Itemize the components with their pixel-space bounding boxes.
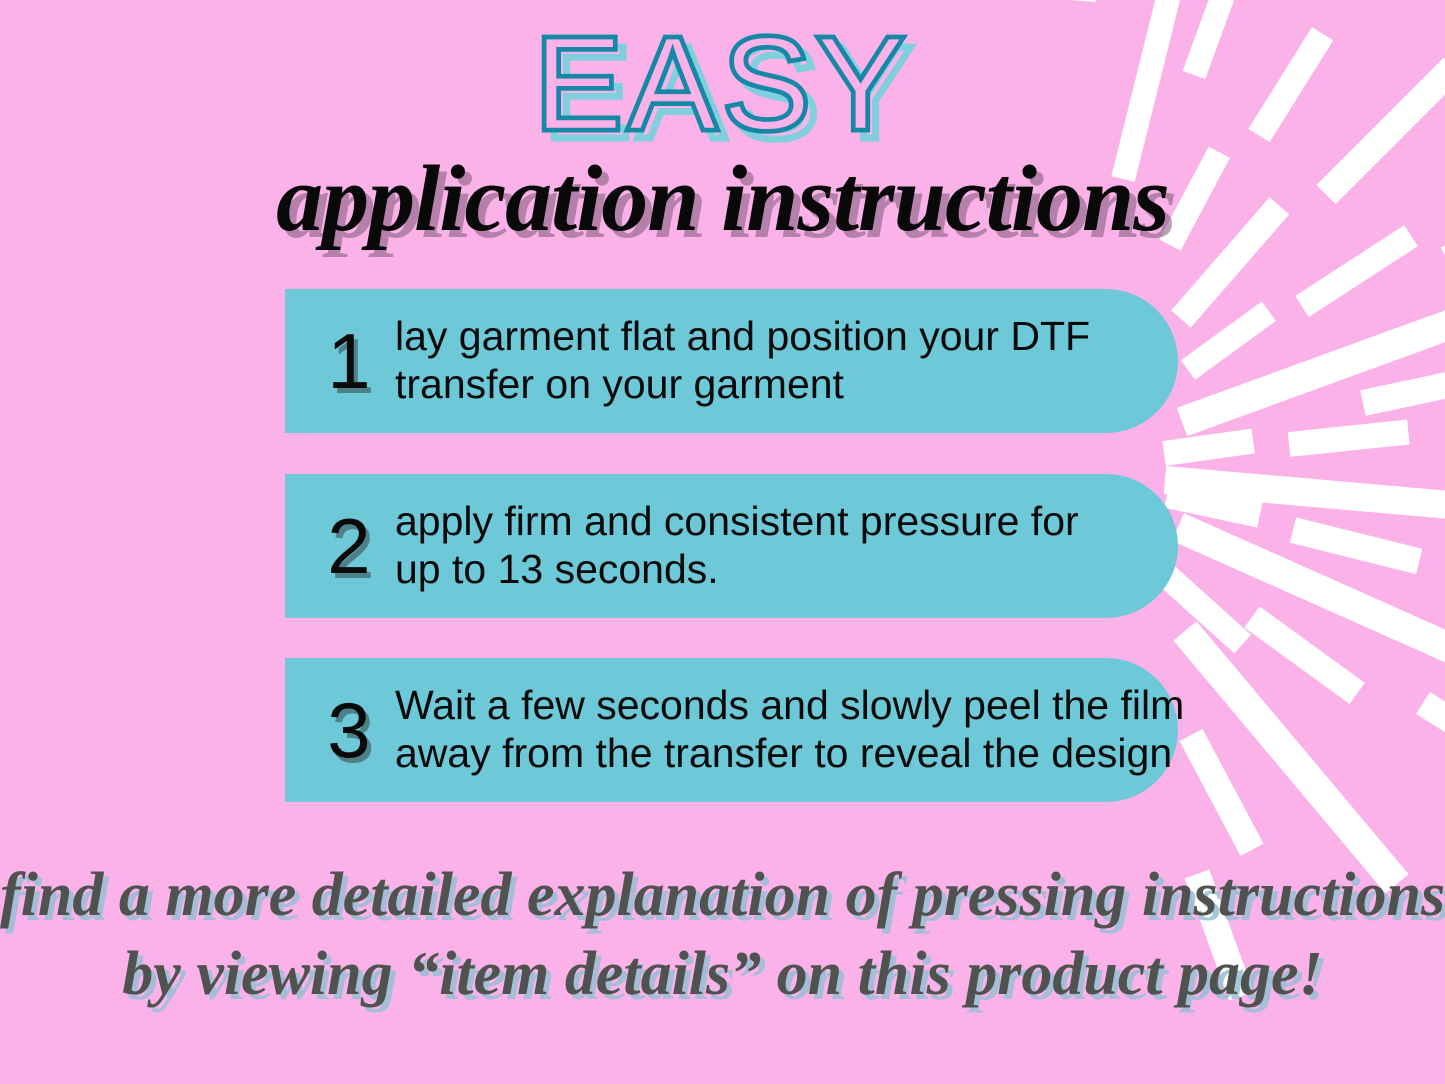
step-text-2-line-1: apply firm and consistent pressure for xyxy=(395,498,1079,546)
step-item-3: 3 Wait a few seconds and slowly peel the… xyxy=(285,658,1178,802)
step-item-1: 1 lay garment flat and position your DTF… xyxy=(285,289,1178,433)
instruction-poster: EASY EASY EASY EASY application instruct… xyxy=(0,0,1445,1084)
step-item-2: 2 apply firm and consistent pressure for… xyxy=(285,474,1178,618)
headline-inner-layer: EASY xyxy=(534,18,910,150)
step-text-2-line-2: up to 13 seconds. xyxy=(395,546,1079,594)
footer-line-1: find a more detailed explanation of pres… xyxy=(0,856,1445,935)
step-text-2: apply firm and consistent pressure for u… xyxy=(385,498,1079,594)
headline-easy: EASY EASY EASY EASY xyxy=(534,18,910,150)
step-text-1-line-1: lay garment flat and position your DTF xyxy=(395,313,1090,361)
footer-line-2: by viewing “item details” on this produc… xyxy=(0,935,1445,1014)
step-text-3-line-2: away from the transfer to reveal the des… xyxy=(395,730,1184,778)
step-text-1: lay garment flat and position your DTF t… xyxy=(385,313,1090,409)
step-number-3: 3 xyxy=(313,691,385,769)
step-text-3-line-1: Wait a few seconds and slowly peel the f… xyxy=(395,682,1184,730)
step-text-1-line-2: transfer on your garment xyxy=(395,361,1090,409)
footer-note: find a more detailed explanation of pres… xyxy=(0,856,1445,1013)
step-number-1: 1 xyxy=(313,322,385,400)
step-text-3: Wait a few seconds and slowly peel the f… xyxy=(385,682,1184,778)
step-number-2: 2 xyxy=(313,507,385,585)
